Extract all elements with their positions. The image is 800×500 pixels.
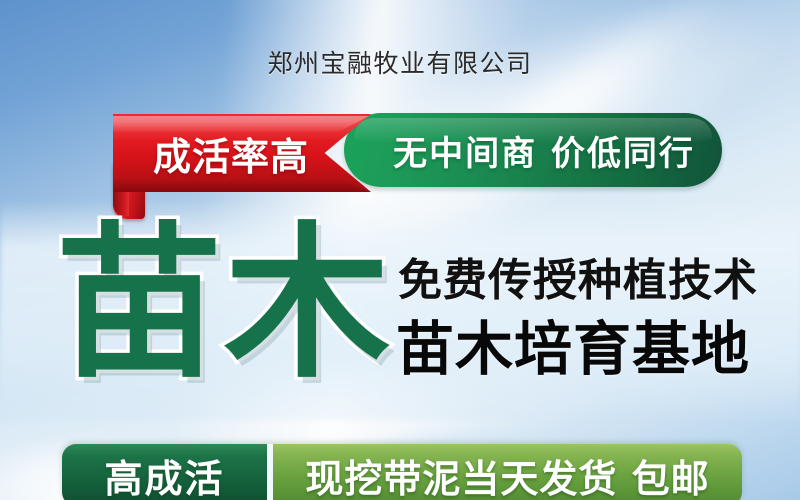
green-pill-banner: 无中间商 价低同行 <box>344 113 722 187</box>
company-name: 郑州宝融牧业有限公司 <box>0 44 800 80</box>
ribbon-row: 无中间商 价低同行 成活率高 <box>0 106 800 216</box>
green-pill-label: 无中间商 价低同行 <box>371 126 695 175</box>
headline-main-line: 苗木培育基地 <box>396 316 750 382</box>
promo-banner: 郑州宝融牧业有限公司 无中间商 价低同行 成活率高 苗木 免费传授种植技术 苗木… <box>0 0 800 500</box>
bottom-bar: 高成活 现挖带泥当天发货 包邮 <box>62 444 742 500</box>
bottom-bar-left-segment: 高成活 <box>62 444 267 500</box>
bottom-bar-right-label: 现挖带泥当天发货 包邮 <box>305 448 709 500</box>
headline-sub-line: 免费传授种植技术 <box>398 256 758 306</box>
headline-big-green: 苗木 <box>56 222 392 388</box>
bottom-bar-left-label: 高成活 <box>104 448 224 500</box>
red-ribbon-label: 成活率高 <box>113 114 349 192</box>
bottom-bar-right-segment: 现挖带泥当天发货 包邮 <box>273 444 742 500</box>
